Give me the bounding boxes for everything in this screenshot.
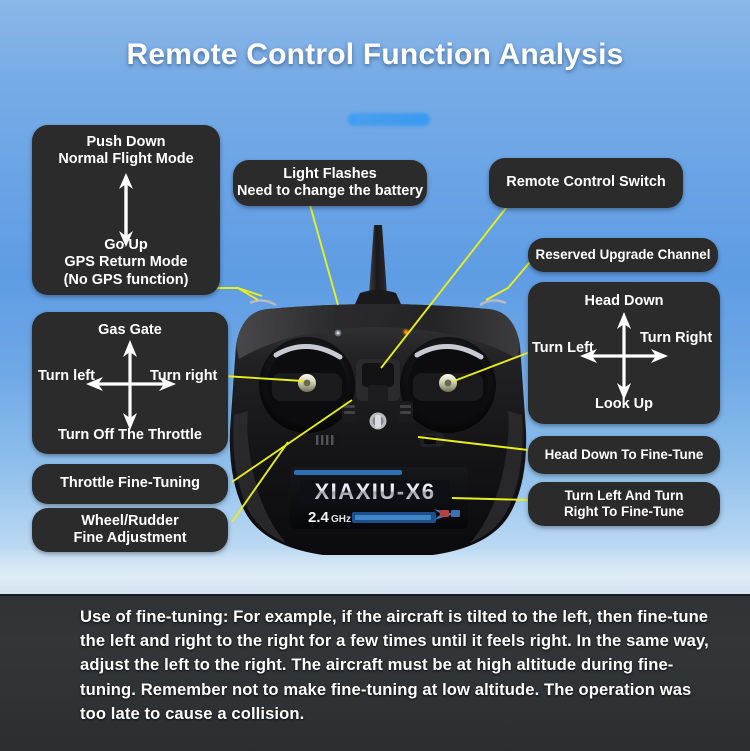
- head-down-fine-tune-label: Head Down To Fine-Tune: [545, 447, 704, 463]
- infographic-canvas: Remote Control Function Analysis: [0, 0, 750, 751]
- callout-throttle-fine-tuning[interactable]: Throttle Fine-Tuning: [32, 464, 228, 504]
- page-title: Remote Control Function Analysis: [0, 38, 750, 72]
- callout-light-flashes[interactable]: Light Flashes Need to change the battery: [233, 160, 427, 206]
- callout-reserved-upgrade-channel[interactable]: Reserved Upgrade Channel: [528, 238, 718, 272]
- turn-left-right-fine-tune-label: Turn Left And Turn Right To Fine-Tune: [564, 488, 684, 520]
- footer-divider: [0, 594, 750, 596]
- flight-mode-bottom-label: Go Up GPS Return Mode (No GPS function): [32, 237, 220, 289]
- right-stick-up-label: Head Down: [528, 293, 720, 309]
- svg-text:XIAXIU-X6: XIAXIU-X6: [314, 479, 435, 504]
- remote-control-switch-label: Remote Control Switch: [506, 174, 666, 191]
- left-stick-up-label: Gas Gate: [32, 322, 228, 338]
- svg-text:GHz: GHz: [331, 514, 351, 525]
- callout-remote-control-switch[interactable]: Remote Control Switch: [489, 158, 683, 208]
- callout-head-down-fine-tune[interactable]: Head Down To Fine-Tune: [528, 436, 720, 474]
- throttle-fine-tuning-label: Throttle Fine-Tuning: [60, 475, 200, 492]
- svg-text:2.4: 2.4: [308, 509, 330, 526]
- callout-left-stick[interactable]: Gas Gate Turn left Turn right Turn Off T…: [32, 312, 228, 454]
- right-stick-down-label: Look Up: [528, 396, 720, 412]
- right-stick-left-label: Turn Left: [532, 340, 594, 356]
- remote-controller-image: XIAXIU-X6 2.4 GHz: [228, 225, 528, 560]
- footer-note: Use of fine-tuning: For example, if the …: [80, 605, 710, 726]
- reserved-upgrade-channel-label: Reserved Upgrade Channel: [536, 247, 711, 263]
- callout-flight-mode[interactable]: Push Down Normal Flight Mode Go Up GPS R…: [32, 125, 220, 295]
- right-stick-right-label: Turn Right: [640, 330, 718, 346]
- left-stick-right-label: Turn right: [150, 368, 224, 384]
- left-stick-left-label: Turn left: [38, 368, 100, 384]
- left-stick-down-label: Turn Off The Throttle: [32, 427, 228, 443]
- callout-turn-left-right-fine-tune[interactable]: Turn Left And Turn Right To Fine-Tune: [528, 482, 720, 526]
- callout-wheel-rudder-fine-adjustment[interactable]: Wheel/Rudder Fine Adjustment: [32, 508, 228, 552]
- wheel-rudder-fine-adjustment-label: Wheel/Rudder Fine Adjustment: [73, 513, 186, 547]
- watermark-dot: [348, 114, 359, 125]
- light-flashes-label: Light Flashes Need to change the battery: [237, 166, 423, 200]
- callout-right-stick[interactable]: Head Down Turn Left Turn Right Look Up: [528, 282, 720, 424]
